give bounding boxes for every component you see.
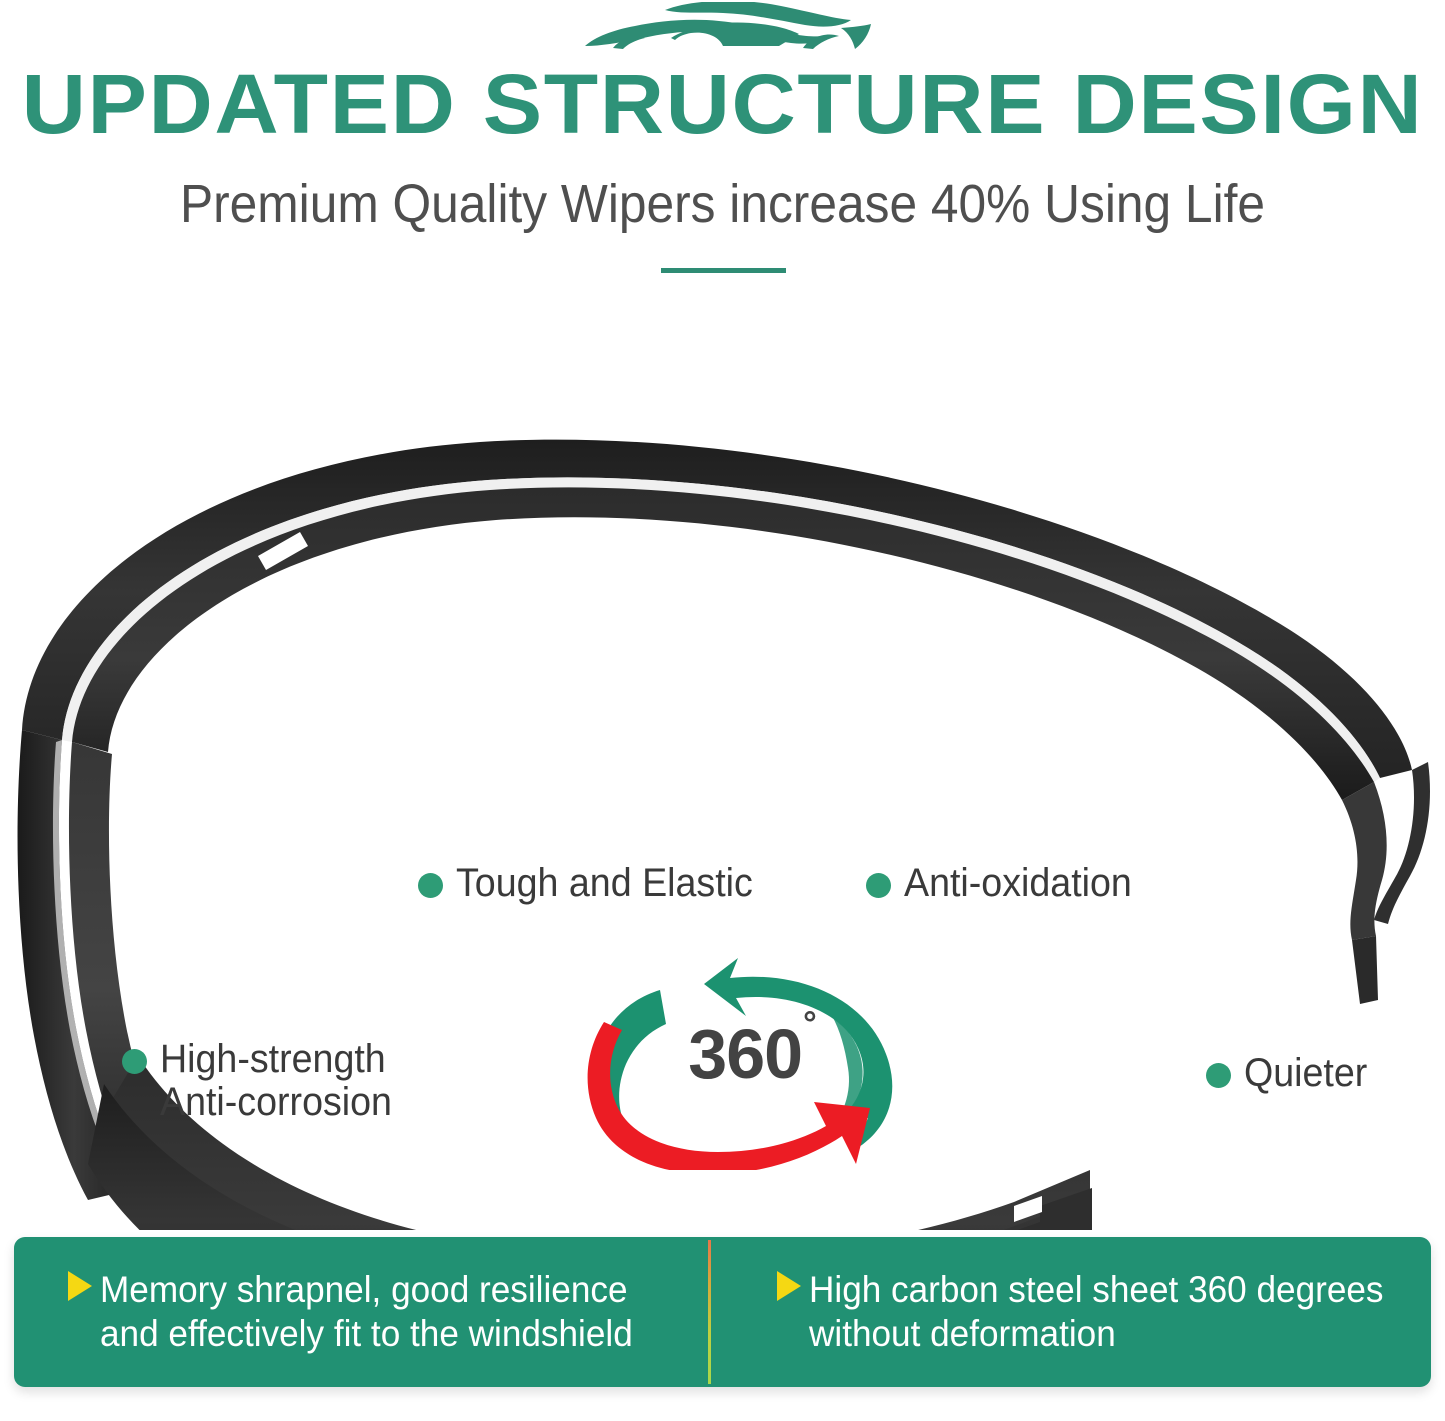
bullet-dot-icon (122, 1049, 147, 1074)
header: UPDATED STRUCTURE DESIGN Premium Quality… (0, 0, 1445, 300)
banner-divider (708, 1240, 711, 1384)
bullet-dot-icon (418, 873, 443, 898)
banner-text: Memory shrapnel, good resilience and eff… (100, 1268, 633, 1355)
banner-high-carbon-steel: High carbon steel sheet 360 degrees with… (723, 1237, 1432, 1387)
feature-label: High-strength Anti-corrosion (160, 1038, 392, 1124)
car-silhouette-icon (573, 2, 873, 64)
product-stage: Tough and Elastic Anti-oxidation High-st… (0, 300, 1445, 1230)
360-degree-badge: 360 ° (570, 950, 930, 1170)
badge-text: 360 ° (570, 950, 930, 1170)
page-subtitle: Premium Quality Wipers increase 40% Usin… (58, 176, 1387, 233)
bullet-dot-icon (1206, 1063, 1231, 1088)
feature-label: Tough and Elastic (456, 862, 753, 905)
feature-anti-oxidation: Anti-oxidation (866, 862, 1146, 905)
bullet-dot-icon (866, 873, 891, 898)
triangle-bullet-icon (68, 1271, 92, 1301)
feature-tough-and-elastic: Tough and Elastic (418, 862, 772, 905)
feature-banner-row: Memory shrapnel, good resilience and eff… (14, 1237, 1431, 1387)
badge-number: 360 (688, 1014, 802, 1094)
banner-text: High carbon steel sheet 360 degrees with… (809, 1268, 1384, 1355)
triangle-bullet-icon (777, 1271, 801, 1301)
title-divider (661, 268, 786, 273)
feature-high-strength-anti-corrosion: High-strength Anti-corrosion (122, 1038, 407, 1124)
feature-quieter: Quieter (1206, 1052, 1375, 1095)
badge-degree-symbol: ° (803, 1005, 817, 1044)
page-title: UPDATED STRUCTURE DESIGN (0, 62, 1445, 146)
feature-label: Quieter (1244, 1052, 1367, 1095)
feature-label: Anti-oxidation (904, 862, 1132, 905)
banner-memory-shrapnel: Memory shrapnel, good resilience and eff… (14, 1237, 723, 1387)
